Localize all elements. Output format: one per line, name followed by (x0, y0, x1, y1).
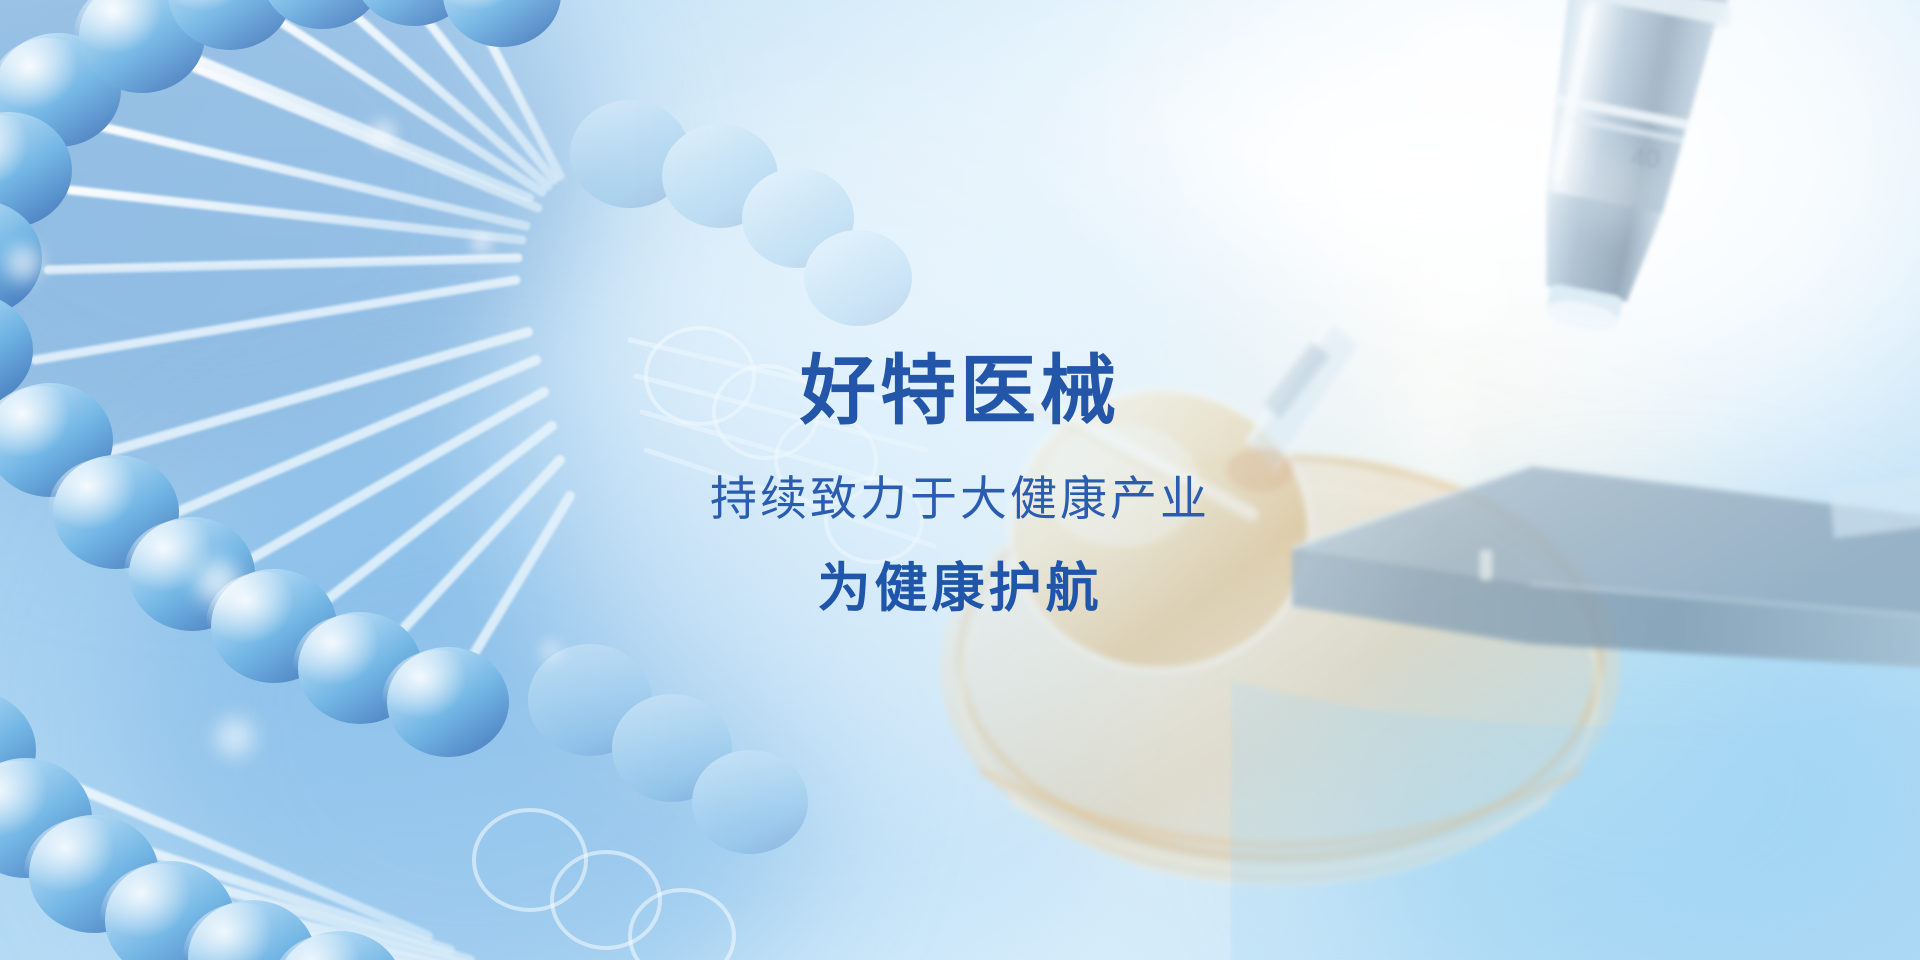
bokeh-circle (540, 640, 562, 662)
hero-banner: 40 (0, 0, 1920, 960)
microscope-stage-graphic (1230, 430, 1920, 960)
bokeh-circle (1405, 230, 1515, 340)
bokeh-circle (216, 718, 254, 756)
company-tagline: 持续致力于大健康产业 (710, 474, 1210, 523)
bokeh-circle (196, 560, 240, 604)
bokeh-circle (1398, 418, 1476, 496)
bokeh-circle (370, 120, 396, 146)
bokeh-circle (1455, 90, 1575, 210)
company-slogan: 为健康护航 (818, 561, 1103, 617)
bokeh-circle (5, 245, 41, 281)
company-name-heading: 好特医械 (800, 352, 1120, 432)
bokeh-circle (1575, 150, 1657, 232)
bokeh-circle (472, 233, 492, 253)
